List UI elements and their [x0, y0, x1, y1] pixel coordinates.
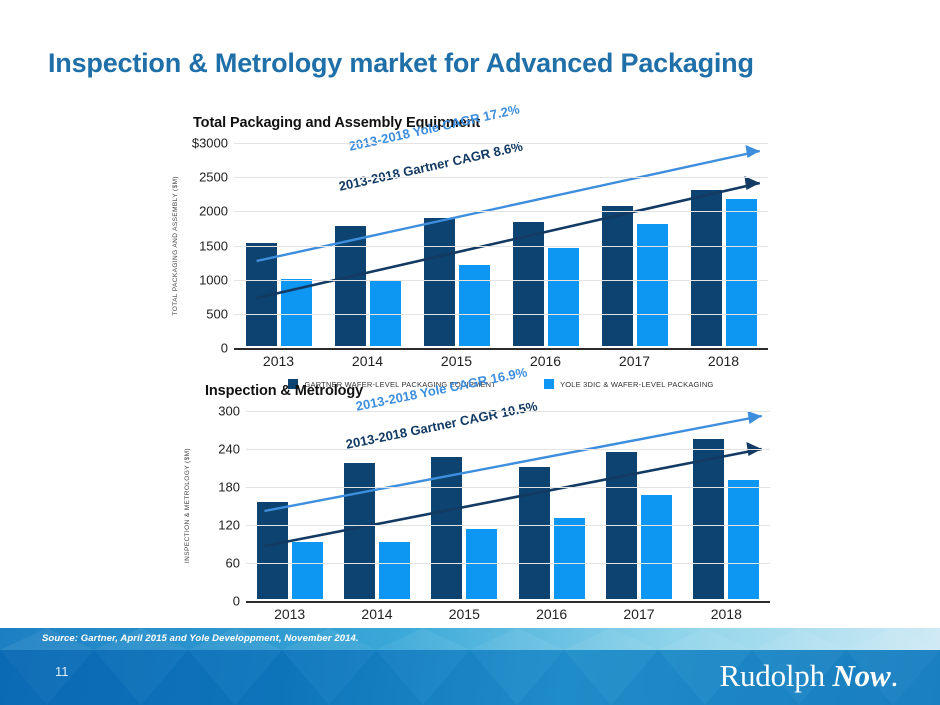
grid-line	[246, 487, 770, 488]
y-axis-ticks: 300240180120600	[194, 411, 244, 601]
bar	[281, 279, 312, 346]
logo-suffix-text: .	[890, 658, 898, 693]
grid-line	[234, 143, 768, 144]
y-tick-label: 240	[218, 442, 240, 457]
bar	[292, 542, 323, 599]
x-tick-label: 2018	[683, 606, 770, 622]
x-tick-label: 2015	[412, 353, 501, 369]
x-tick-label: 2018	[679, 353, 768, 369]
x-tick-label: 2016	[508, 606, 595, 622]
axis-baseline	[246, 601, 770, 603]
y-axis-title: TOTAL PACKAGING AND ASSEMBLY ($M)	[168, 143, 182, 348]
x-tick-label: 2013	[234, 353, 323, 369]
bar	[379, 542, 410, 599]
chart-total-packaging: Total Packaging and Assembly Equipment T…	[168, 115, 768, 375]
y-tick-label: 1000	[199, 272, 228, 287]
bar	[637, 224, 668, 346]
grid-line	[234, 314, 768, 315]
y-tick-label: 0	[233, 594, 240, 609]
grid-line	[234, 211, 768, 212]
x-axis-labels: 201320142015201620172018	[246, 606, 770, 622]
grid-line	[234, 246, 768, 247]
x-tick-label: 2014	[323, 353, 412, 369]
plot-area: 2013-2018 Yole CAGR 17.2% 2013-2018 Gart…	[234, 143, 768, 348]
grid-line	[246, 525, 770, 526]
bar	[431, 457, 462, 599]
source-citation: Source: Gartner, April 2015 and Yole Dev…	[42, 633, 359, 644]
bar-group	[333, 463, 420, 599]
bar-groups	[234, 143, 768, 346]
axis-baseline	[234, 348, 768, 350]
y-tick-label: 0	[221, 341, 228, 356]
grid-line	[234, 280, 768, 281]
bar	[554, 518, 585, 599]
bar-group	[421, 457, 508, 599]
logo-primary-text: Rudolph	[720, 658, 833, 693]
bar	[335, 226, 366, 346]
y-tick-label: 300	[218, 404, 240, 419]
grid-line	[234, 177, 768, 178]
x-tick-label: 2015	[421, 606, 508, 622]
bar	[513, 222, 544, 346]
x-axis-labels: 201320142015201620172018	[234, 353, 768, 369]
chart-inspection-metrology: Inspection & Metrology INSPECTION & METR…	[180, 383, 770, 633]
rudolph-now-logo: Rudolph Now.	[720, 658, 898, 694]
x-tick-label: 2017	[595, 606, 682, 622]
bar-group	[590, 206, 679, 346]
bar	[728, 480, 759, 599]
y-tick-label: 120	[218, 518, 240, 533]
y-tick-label: 1500	[199, 238, 228, 253]
bar-group	[683, 439, 770, 599]
bar-group	[412, 218, 501, 346]
bar	[691, 190, 722, 346]
bar-group	[501, 222, 590, 346]
bar-group	[246, 502, 333, 599]
y-tick-label: 180	[218, 480, 240, 495]
page-title: Inspection & Metrology market for Advanc…	[48, 48, 888, 79]
y-tick-label: 500	[206, 306, 228, 321]
grid-line	[246, 449, 770, 450]
y-axis-title-label: INSPECTION & METROLOGY ($M)	[184, 448, 191, 563]
bar-group	[679, 190, 768, 346]
bar	[424, 218, 455, 346]
bar	[344, 463, 375, 599]
bar	[693, 439, 724, 599]
bar	[459, 265, 490, 346]
bar-groups	[246, 411, 770, 599]
y-axis-title: INSPECTION & METROLOGY ($M)	[180, 411, 194, 601]
bar	[257, 502, 288, 599]
x-tick-label: 2013	[246, 606, 333, 622]
plot-area: 2013-2018 Yole CAGR 16.9% 2013-2018 Gart…	[246, 411, 770, 601]
x-tick-label: 2014	[333, 606, 420, 622]
logo-emphasis-text: Now	[832, 658, 890, 693]
slide-footer: Source: Gartner, April 2015 and Yole Dev…	[0, 628, 940, 705]
bar	[641, 495, 672, 599]
page-number: 11	[55, 664, 69, 679]
bar-group	[323, 226, 412, 346]
bar-group	[234, 243, 323, 346]
x-tick-label: 2017	[590, 353, 679, 369]
grid-line	[246, 411, 770, 412]
slide: Inspection & Metrology market for Advanc…	[0, 0, 940, 705]
bar	[246, 243, 277, 346]
bar	[466, 529, 497, 599]
y-tick-label: 60	[226, 556, 240, 571]
y-tick-label: 2000	[199, 204, 228, 219]
bar	[726, 199, 757, 346]
bar	[602, 206, 633, 346]
bar	[548, 248, 579, 346]
y-axis-ticks: $300025002000150010005000	[182, 143, 232, 348]
y-tick-label: 2500	[199, 170, 228, 185]
y-tick-label: $3000	[192, 136, 228, 151]
y-axis-title-label: TOTAL PACKAGING AND ASSEMBLY ($M)	[172, 176, 179, 316]
grid-line	[246, 563, 770, 564]
